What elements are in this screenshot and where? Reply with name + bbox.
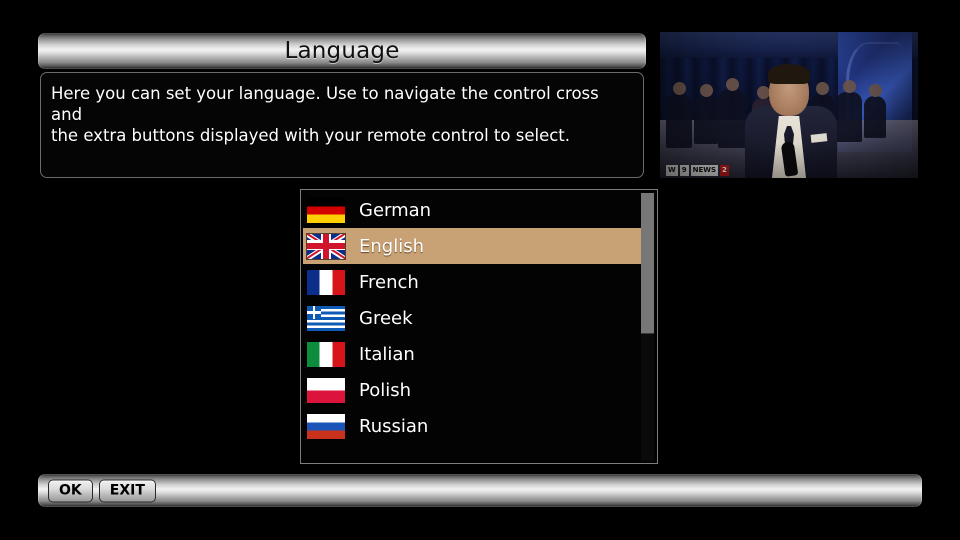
list-item-label: Polish [359, 380, 411, 401]
language-list: German English French Greek [303, 192, 643, 444]
united-kingdom-flag-icon [307, 234, 345, 259]
logo-part-1: W [666, 165, 678, 176]
video-crowd-person [864, 96, 886, 138]
exit-button[interactable]: EXIT [99, 479, 156, 502]
greece-flag-icon [307, 306, 345, 331]
italy-flag-icon [307, 342, 345, 367]
description-panel: Here you can set your language. Use to n… [40, 72, 644, 178]
scrollbar-track[interactable] [641, 193, 654, 461]
video-crowd-person [836, 92, 862, 142]
language-list-panel: German English French Greek [300, 189, 658, 464]
france-flag-icon [307, 270, 345, 295]
description-text: Here you can set your language. Use to n… [51, 83, 633, 146]
list-item-french[interactable]: French [303, 264, 643, 300]
german-flag-icon [307, 198, 345, 223]
list-item-label: French [359, 272, 419, 293]
list-item-english[interactable]: English [303, 228, 643, 264]
list-item-label: German [359, 200, 431, 221]
video-crowd-person [718, 90, 746, 148]
video-crowd-person [694, 96, 718, 144]
list-item-label: Greek [359, 308, 413, 329]
video-preview[interactable]: W 9 NEWS 2 [660, 32, 918, 178]
page-title: Language [38, 38, 646, 64]
bottom-action-bar: OK EXIT [38, 474, 922, 507]
softkey-group: OK EXIT [48, 479, 156, 502]
list-item-italian[interactable]: Italian [303, 336, 643, 372]
list-item-russian[interactable]: Russian [303, 408, 643, 444]
logo-part-2: 9 [680, 165, 689, 176]
list-item-label: Italian [359, 344, 415, 365]
scrollbar-thumb[interactable] [641, 193, 654, 334]
list-item-polish[interactable]: Polish [303, 372, 643, 408]
broadcaster-logo: W 9 NEWS 2 [666, 165, 729, 176]
video-reporter-pocket-square [811, 133, 828, 143]
video-reporter-hair [768, 64, 810, 84]
ok-button[interactable]: OK [48, 479, 93, 502]
list-item-label: English [359, 236, 424, 257]
logo-part-3: NEWS [691, 165, 718, 176]
logo-part-4: 2 [720, 165, 729, 176]
list-item-label: Russian [359, 416, 428, 437]
title-bar: Language [38, 33, 646, 69]
russia-flag-icon [307, 414, 345, 439]
tv-settings-screen: Language Here you can set your language.… [0, 0, 960, 540]
poland-flag-icon [307, 378, 345, 403]
list-item-greek[interactable]: Greek [303, 300, 643, 336]
list-item-german[interactable]: German [303, 192, 643, 228]
video-crowd-person [666, 94, 692, 148]
